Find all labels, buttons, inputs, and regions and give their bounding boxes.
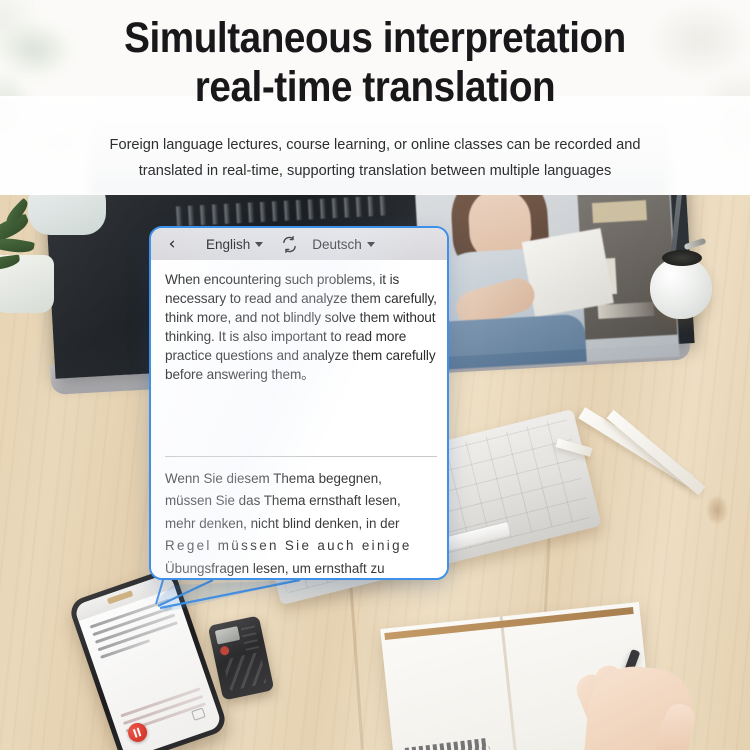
device-screen xyxy=(215,626,240,644)
target-line: mehr denken, nicht blind denken, in der xyxy=(165,513,439,535)
participant-paper xyxy=(522,228,614,317)
translation-card-body: When encountering such problems, it is n… xyxy=(151,260,447,580)
target-language-label: Deutsch xyxy=(312,237,362,252)
source-language-label: English xyxy=(206,237,250,252)
pen-holder-opening xyxy=(662,250,702,266)
participant-jeans xyxy=(434,314,587,371)
target-text[interactable]: Wenn Sie diesem Thema begegnen, müssen S… xyxy=(165,468,439,580)
translation-card-header: ‹ English Deutsch xyxy=(151,228,447,260)
pen-holder xyxy=(650,257,712,319)
target-line: müssen Sie das Thema ernsthaft lesen, xyxy=(165,490,439,512)
translation-card[interactable]: ‹ English Deutsch When encountering such… xyxy=(149,226,449,580)
phone-transcript-source xyxy=(90,598,197,707)
target-language-selector[interactable]: Deutsch xyxy=(312,237,375,252)
notebook-spine xyxy=(500,616,524,750)
source-text[interactable]: When encountering such problems, it is n… xyxy=(165,270,437,385)
page-title: Simultaneous interpretation real-time tr… xyxy=(38,14,713,112)
chevron-down-icon xyxy=(367,242,375,247)
target-line: Übungsfragen lesen, um ernsthaft zu xyxy=(165,558,439,580)
header-band: Simultaneous interpretation real-time tr… xyxy=(0,0,750,196)
phone-app-tab xyxy=(107,590,134,604)
promotional-page: Simultaneous interpretation real-time tr… xyxy=(0,0,750,750)
target-line: Wenn Sie diesem Thema begegnen, xyxy=(165,468,439,490)
section-divider xyxy=(165,456,437,457)
device-speaker-grille xyxy=(223,652,267,691)
handwritten-note xyxy=(405,738,490,750)
shelf-item xyxy=(592,200,647,223)
chevron-down-icon xyxy=(255,242,263,247)
video-call-window xyxy=(415,195,680,371)
source-language-selector[interactable]: English xyxy=(206,237,263,252)
page-subtitle: Foreign language lectures, course learni… xyxy=(68,132,682,184)
wood-knot xyxy=(706,495,728,525)
back-icon[interactable]: ‹ xyxy=(163,235,181,253)
device-ports xyxy=(240,623,259,651)
device-record-button xyxy=(219,645,230,656)
target-line: Regel müssen Sie auch einige xyxy=(165,535,439,557)
ceramic-vase xyxy=(28,195,106,235)
swap-languages-icon[interactable] xyxy=(281,236,298,253)
